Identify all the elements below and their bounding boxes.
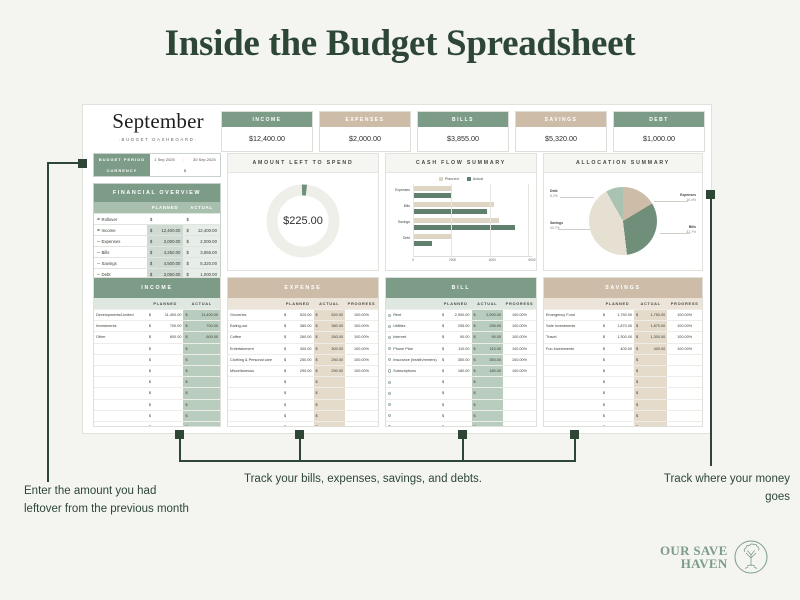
checkbox-icon[interactable] (388, 392, 391, 395)
row-planned[interactable]: $ (282, 422, 314, 427)
row-actual[interactable]: $2,900.00 (472, 310, 504, 320)
row-planned[interactable]: $1,750.00 (601, 310, 634, 320)
row-planned[interactable]: $2,900.00 (440, 310, 472, 320)
checkbox-icon[interactable] (388, 314, 391, 317)
row-planned[interactable]: $ (601, 366, 634, 376)
bar-track (413, 184, 528, 200)
row-label: Other (94, 332, 147, 342)
kpi-card-debt: DEBT$1,000.00 (613, 111, 705, 152)
bar-category-label: Savings (390, 220, 410, 224)
row-planned[interactable]: $ (282, 388, 314, 398)
financial-overview-row: Income$12,400.00$12,400.00 (94, 224, 220, 235)
kpi-value: $1,000.00 (614, 127, 704, 151)
row-planned[interactable]: $ (147, 422, 184, 427)
fo-row-name: Income (94, 225, 147, 235)
financial-overview-row: Rollover$$ (94, 213, 220, 224)
x-axis-tick: 6000 (528, 258, 535, 262)
row-progress: 100.00% (667, 332, 702, 342)
table-row[interactable]: $$ (94, 376, 220, 387)
row-actual[interactable]: $ (472, 388, 504, 398)
table-header-row: PLANNEDACTUALPROGRESS (544, 298, 702, 309)
table-row[interactable]: Utilities$255.00$255.00100.00% (386, 320, 536, 331)
bar-track (413, 216, 528, 232)
column-header (386, 298, 440, 309)
row-actual[interactable]: $ (634, 400, 667, 410)
table-row[interactable]: $$ (94, 399, 220, 410)
table-header-row: PLANNEDACTUAL (94, 298, 220, 309)
row-planned[interactable]: $300.00 (282, 344, 314, 354)
brand-logo: OUR SAVE HAVEN (660, 540, 768, 574)
row-progress: 100.00% (345, 321, 378, 331)
row-label (228, 411, 282, 421)
row-progress: 100.00% (503, 344, 536, 354)
table-row[interactable]: Investments$700.00$700.00 (94, 320, 220, 331)
budget-dashboard-sheet: September ·BUDGET DASHBOARD· INCOME$12,4… (82, 104, 712, 434)
checkbox-icon[interactable] (388, 381, 391, 384)
table-row[interactable]: $$ (544, 354, 702, 365)
pie-label-expenses-pct: 16.4% (686, 198, 696, 202)
row-planned[interactable]: $ (147, 377, 184, 387)
table-row[interactable]: $$ (544, 365, 702, 376)
table-row[interactable]: Entertainment$300.00$300.00100.00% (228, 343, 378, 354)
table-row[interactable]: $$ (386, 421, 536, 427)
row-actual[interactable]: $290.00 (314, 366, 346, 376)
table-row[interactable]: Miscellaneous$290.00$290.00100.00% (228, 365, 378, 376)
row-planned[interactable]: $ (440, 388, 472, 398)
pie-label-savings-pct: 43.7% (550, 226, 560, 230)
bar-actual (413, 241, 432, 246)
row-label (94, 344, 147, 354)
x-axis-tick: 0 (412, 258, 414, 262)
cashflow-bars: ExpensesBillsSavingsDebt (390, 184, 532, 256)
row-planned[interactable]: $520.00 (282, 310, 314, 320)
column-header: ACTUAL (314, 298, 346, 309)
table-row[interactable]: $$ (386, 376, 536, 387)
kpi-card-income: INCOME$12,400.00 (221, 111, 313, 152)
row-label: Utilities (386, 321, 440, 331)
table-row[interactable]: Emergency Fund$1,750.00$1,750.00100.00% (544, 309, 702, 320)
logo-text: OUR SAVE HAVEN (660, 544, 728, 570)
row-actual[interactable]: $260.00 (314, 332, 346, 342)
donut-chart: $225.00 (228, 173, 378, 269)
connector-bottom-h (179, 460, 576, 462)
row-actual[interactable]: $300.00 (314, 344, 346, 354)
annotation-middle: Track your bills, expenses, savings, and… (244, 471, 574, 489)
bar-category-label: Expenses (390, 188, 410, 192)
fo-row-name: Rollover (94, 214, 147, 224)
donut-card-title: AMOUNT LEFT TO SPEND (228, 154, 378, 173)
pie-label-bills-pct: 31.7% (686, 230, 696, 234)
pie-label-expenses: Expenses 16.4% (680, 193, 696, 202)
row-planned[interactable]: $ (282, 411, 314, 421)
row-actual[interactable]: $400.00 (634, 344, 667, 354)
financial-overview-table: FINANCIAL OVERVIEW PLANNED ACTUAL Rollov… (93, 183, 221, 291)
row-label (228, 400, 282, 410)
row-label (94, 411, 147, 421)
row-planned[interactable]: $1,300.00 (601, 332, 634, 342)
legend-swatch (439, 177, 443, 181)
row-actual[interactable]: $ (634, 377, 667, 387)
table-row[interactable]: Internet$90.00$90.00100.00% (386, 331, 536, 342)
connector-left-v (47, 162, 49, 482)
row-actual[interactable]: $ (314, 377, 346, 387)
row-label (386, 388, 440, 398)
row-progress (667, 388, 702, 398)
grid-line (490, 184, 491, 256)
row-actual[interactable]: $ (634, 355, 667, 365)
row-planned[interactable]: $ (440, 422, 472, 427)
row-planned[interactable]: $290.00 (282, 366, 314, 376)
row-actual[interactable]: $700.00 (183, 321, 220, 331)
currency-label: CURRENCY (94, 165, 150, 176)
month-name: September (93, 109, 223, 134)
row-progress (667, 366, 702, 376)
row-label (544, 400, 601, 410)
table-row[interactable]: Coffee$260.00$260.00100.00% (228, 331, 378, 342)
row-progress: 100.00% (345, 344, 378, 354)
row-label (544, 377, 601, 387)
row-label: Clothing & Personal care (228, 355, 282, 365)
row-actual[interactable]: $11,400.00 (183, 310, 220, 320)
row-planned[interactable]: $ (601, 400, 634, 410)
table-row[interactable]: $$ (94, 421, 220, 427)
row-marker-icon (97, 218, 100, 221)
row-planned[interactable]: $ (282, 400, 314, 410)
pie-slices (589, 187, 657, 255)
row-label (94, 366, 147, 376)
row-marker-icon (97, 252, 100, 253)
kpi-label: INCOME (222, 112, 312, 127)
legend-item-planned: Planned (439, 177, 459, 181)
row-actual[interactable]: $ (634, 366, 667, 376)
currency-row: CURRENCY $ (94, 165, 220, 176)
row-actual[interactable]: $180.00 (472, 366, 504, 376)
row-actual[interactable]: $ (472, 411, 504, 421)
checkbox-icon[interactable] (388, 325, 391, 328)
row-actual[interactable]: $1,750.00 (634, 310, 667, 320)
currency-value[interactable]: $ (150, 165, 220, 176)
row-actual[interactable]: $ (472, 400, 504, 410)
table-row[interactable]: $$ (386, 410, 536, 421)
table-row[interactable]: Travel$1,300.00$1,300.00100.00% (544, 331, 702, 342)
table-row[interactable]: Other$600.00$600.00 (94, 331, 220, 342)
row-label (228, 377, 282, 387)
row-actual[interactable]: $ (634, 422, 667, 427)
connector-income-v (179, 436, 181, 462)
checkbox-icon[interactable] (388, 358, 391, 361)
row-actual[interactable]: $ (314, 411, 346, 421)
row-planned[interactable]: $350.00 (440, 355, 472, 365)
fo-row-name: Savings (94, 258, 147, 268)
row-actual[interactable]: $ (183, 377, 220, 387)
table-row[interactable]: $$ (94, 354, 220, 365)
amount-left-to-spend-card: AMOUNT LEFT TO SPEND $225.00 (227, 153, 379, 271)
table-row[interactable]: Rent$2,900.00$2,900.00100.00% (386, 309, 536, 320)
annotation-left: Enter the amount you had leftover from t… (24, 483, 194, 519)
table-title: SAVINGS (544, 278, 702, 298)
row-actual[interactable]: $ (634, 388, 667, 398)
table-row[interactable]: Insurance (health/renters)$350.00$350.00… (386, 354, 536, 365)
table-row[interactable]: $$ (544, 410, 702, 421)
fo-row-actual: $12,400.00 (183, 225, 220, 235)
period-separator: : (183, 157, 184, 162)
connector-expense-v (299, 436, 301, 462)
row-planned[interactable]: $ (147, 388, 184, 398)
row-actual[interactable]: $350.00 (472, 355, 504, 365)
row-planned[interactable]: $380.00 (282, 321, 314, 331)
budget-period-row: BUDGET PERIOD 1 Sep 2025 : 30 Sep 2025 (94, 154, 220, 165)
budget-period-table: BUDGET PERIOD 1 Sep 2025 : 30 Sep 2025 C… (93, 153, 221, 177)
table-row[interactable]: $$ (228, 399, 378, 410)
legend-swatch (467, 177, 471, 181)
row-progress: 100.00% (503, 366, 536, 376)
table-row[interactable]: Groceries$520.00$520.00100.00% (228, 309, 378, 320)
table-row[interactable]: $$ (544, 376, 702, 387)
row-planned[interactable]: $600.00 (147, 332, 184, 342)
row-progress: 100.00% (667, 321, 702, 331)
bar-actual (413, 193, 451, 198)
row-label (228, 422, 282, 427)
column-header: PROGRESS (503, 298, 536, 309)
fo-row-name: Bills (94, 247, 147, 257)
row-label (544, 411, 601, 421)
fo-row-actual: $5,320.00 (183, 258, 220, 268)
row-planned[interactable]: $ (601, 422, 634, 427)
row-actual[interactable]: $ (314, 400, 346, 410)
table-row[interactable]: Eating-out$380.00$380.00100.00% (228, 320, 378, 331)
table-row[interactable]: Fun Investments$400.00$400.00100.00% (544, 343, 702, 354)
row-label (544, 355, 601, 365)
row-planned[interactable]: $ (282, 377, 314, 387)
budget-period-value[interactable]: 1 Sep 2025 : 30 Sep 2025 (150, 154, 220, 165)
row-planned[interactable]: $ (440, 400, 472, 410)
table-row[interactable]: $$ (228, 421, 378, 427)
row-actual[interactable]: $255.00 (472, 321, 504, 331)
column-header: PROGRESS (345, 298, 378, 309)
row-planned[interactable]: $ (147, 400, 184, 410)
row-actual[interactable]: $ (183, 388, 220, 398)
period-end: 30 Sep 2025 (193, 157, 216, 162)
table-row[interactable]: Subscriptions$180.00$180.00100.00% (386, 365, 536, 376)
row-progress: 100.00% (503, 310, 536, 320)
fo-row-planned: $4,500.00 (147, 258, 184, 268)
row-progress (667, 355, 702, 365)
row-planned[interactable]: $ (147, 355, 184, 365)
row-actual[interactable]: $ (183, 366, 220, 376)
row-actual[interactable]: $250.00 (314, 355, 346, 365)
row-progress: 100.00% (345, 355, 378, 365)
table-header-row: PLANNEDACTUALPROGRESS (228, 298, 378, 309)
row-label: Miscellaneous (228, 366, 282, 376)
row-progress (667, 377, 702, 387)
row-actual[interactable]: $ (183, 344, 220, 354)
bar-track (413, 200, 528, 216)
row-actual[interactable]: $110.00 (472, 344, 504, 354)
allocation-summary-card: ALLOCATION SUMMARY Debt 8.2% Expenses 16… (543, 153, 703, 271)
row-planned[interactable]: $110.00 (440, 344, 472, 354)
row-progress (345, 422, 378, 427)
table-row[interactable]: $$ (386, 399, 536, 410)
fo-row-planned: $ (147, 214, 184, 224)
table-row[interactable]: $$ (386, 387, 536, 398)
checkbox-icon[interactable] (388, 425, 391, 427)
row-marker-icon (97, 241, 100, 242)
row-planned[interactable]: $700.00 (147, 321, 184, 331)
connector-savings-v (574, 436, 576, 462)
row-planned[interactable]: $ (147, 344, 184, 354)
table-row[interactable]: $$ (228, 410, 378, 421)
dashboard-subtitle: ·BUDGET DASHBOARD· (93, 137, 223, 142)
table-row[interactable]: $$ (228, 387, 378, 398)
table-title: INCOME (94, 278, 220, 298)
bar-group-debt: Debt (390, 232, 532, 248)
table-row[interactable]: $$ (544, 399, 702, 410)
row-actual[interactable]: $ (183, 400, 220, 410)
checkbox-icon[interactable] (388, 336, 391, 339)
checkbox-icon[interactable] (388, 369, 391, 372)
logo-line-2: HAVEN (660, 557, 728, 570)
savings-table: SAVINGSPLANNEDACTUALPROGRESSEmergency Fu… (543, 277, 703, 427)
row-label (94, 400, 147, 410)
column-header (228, 298, 282, 309)
row-planned[interactable]: $ (147, 411, 184, 421)
row-actual[interactable]: $ (183, 422, 220, 427)
table-row[interactable]: Clothing & Personal care$250.00$250.0010… (228, 354, 378, 365)
row-marker-icon (97, 263, 100, 264)
row-planned[interactable]: $90.00 (440, 332, 472, 342)
row-actual[interactable]: $380.00 (314, 321, 346, 331)
bar-group-expenses: Expenses (390, 184, 532, 200)
table-row[interactable]: Safe Investments$1,870.00$1,870.00100.00… (544, 320, 702, 331)
row-label (386, 422, 440, 427)
kpi-label: BILLS (418, 112, 508, 127)
row-planned[interactable]: $11,400.00 (147, 310, 184, 320)
row-label (544, 422, 601, 427)
row-planned[interactable]: $ (601, 411, 634, 421)
row-planned[interactable]: $400.00 (601, 344, 634, 354)
row-planned[interactable]: $ (440, 411, 472, 421)
row-actual[interactable]: $ (183, 411, 220, 421)
grid-line (451, 184, 452, 256)
row-label: Safe Investments (544, 321, 601, 331)
row-label: Rent (386, 310, 440, 320)
column-header: ACTUAL (472, 298, 504, 309)
bar-actual (413, 209, 487, 214)
column-header: PLANNED (147, 298, 184, 309)
row-actual[interactable]: $1,870.00 (634, 321, 667, 331)
row-actual[interactable]: $520.00 (314, 310, 346, 320)
table-title: EXPENSE (228, 278, 378, 298)
checkbox-icon[interactable] (388, 347, 391, 350)
row-progress (503, 422, 536, 427)
row-planned[interactable]: $255.00 (440, 321, 472, 331)
pie-label-bills: Bills 31.7% (686, 225, 696, 234)
row-planned[interactable]: $ (440, 377, 472, 387)
table-row[interactable]: $$ (544, 421, 702, 427)
x-axis-tick: 4000 (489, 258, 496, 262)
fo-col-actual: ACTUAL (183, 202, 220, 213)
row-label: Investments (94, 321, 147, 331)
table-row[interactable]: $$ (544, 387, 702, 398)
pie-label-savings: Savings 43.7% (550, 221, 563, 230)
row-progress: 100.00% (345, 310, 378, 320)
table-row[interactable]: $$ (94, 343, 220, 354)
pie-label-debt-pct: 8.2% (550, 194, 558, 198)
row-progress: 100.00% (667, 310, 702, 320)
row-label (228, 388, 282, 398)
column-header: PLANNED (282, 298, 314, 309)
bar-planned (413, 186, 451, 191)
fo-row-planned: $2,000.00 (147, 236, 184, 246)
row-progress (503, 411, 536, 421)
allocation-card-title: ALLOCATION SUMMARY (544, 154, 702, 173)
tree-icon (734, 540, 768, 574)
bar-group-bills: Bills (390, 200, 532, 216)
income-table: INCOMEPLANNEDACTUALDevelopments/Limited$… (93, 277, 221, 427)
row-planned[interactable]: $ (601, 355, 634, 365)
row-actual[interactable]: $600.00 (183, 332, 220, 342)
pie-label-debt: Debt 8.2% (550, 189, 558, 198)
table-row[interactable]: $$ (94, 410, 220, 421)
row-actual[interactable]: $ (472, 377, 504, 387)
row-progress (503, 377, 536, 387)
allocation-pie-chart: Debt 8.2% Expenses 16.4% Bills 31.7% Sav… (544, 173, 702, 269)
row-progress: 100.00% (503, 332, 536, 342)
table-row[interactable]: $$ (94, 365, 220, 376)
table-row[interactable]: $$ (94, 387, 220, 398)
legend-item-actual: Actual (467, 177, 484, 181)
connector-left-h (47, 162, 81, 164)
annotation-right: Track where your money goes (640, 471, 790, 507)
column-header (94, 298, 147, 309)
row-actual[interactable]: $ (314, 422, 346, 427)
row-planned[interactable]: $ (601, 377, 634, 387)
table-row[interactable]: Phone Plan$110.00$110.00100.00% (386, 343, 536, 354)
table-row[interactable]: Developments/Limited$11,400.00$11,400.00 (94, 309, 220, 320)
fo-row-actual: $ (183, 214, 220, 224)
kpi-value: $3,855.00 (418, 127, 508, 151)
row-actual[interactable]: $ (472, 422, 504, 427)
row-planned[interactable]: $1,870.00 (601, 321, 634, 331)
row-planned[interactable]: $ (147, 366, 184, 376)
row-actual[interactable]: $1,300.00 (634, 332, 667, 342)
row-planned[interactable]: $250.00 (282, 355, 314, 365)
bar-category-label: Bills (390, 204, 410, 208)
row-marker-icon (97, 274, 100, 275)
checkbox-icon[interactable] (388, 403, 391, 406)
row-planned[interactable]: $ (601, 388, 634, 398)
row-label (386, 400, 440, 410)
row-label: Internet (386, 332, 440, 342)
table-row[interactable]: $$ (228, 376, 378, 387)
row-label (544, 366, 601, 376)
row-actual[interactable]: $ (183, 355, 220, 365)
checkbox-icon[interactable] (388, 414, 391, 417)
row-label (94, 388, 147, 398)
row-actual[interactable]: $ (634, 411, 667, 421)
period-start: 1 Sep 2025 (154, 157, 174, 162)
row-label: Entertainment (228, 344, 282, 354)
row-label (386, 377, 440, 387)
row-actual[interactable]: $90.00 (472, 332, 504, 342)
column-header: PLANNED (601, 298, 634, 309)
row-planned[interactable]: $260.00 (282, 332, 314, 342)
kpi-card-savings: SAVINGS$5,320.00 (515, 111, 607, 152)
row-planned[interactable]: $180.00 (440, 366, 472, 376)
row-actual[interactable]: $ (314, 388, 346, 398)
fo-col-blank (94, 202, 147, 213)
connector-right-v (710, 194, 712, 466)
